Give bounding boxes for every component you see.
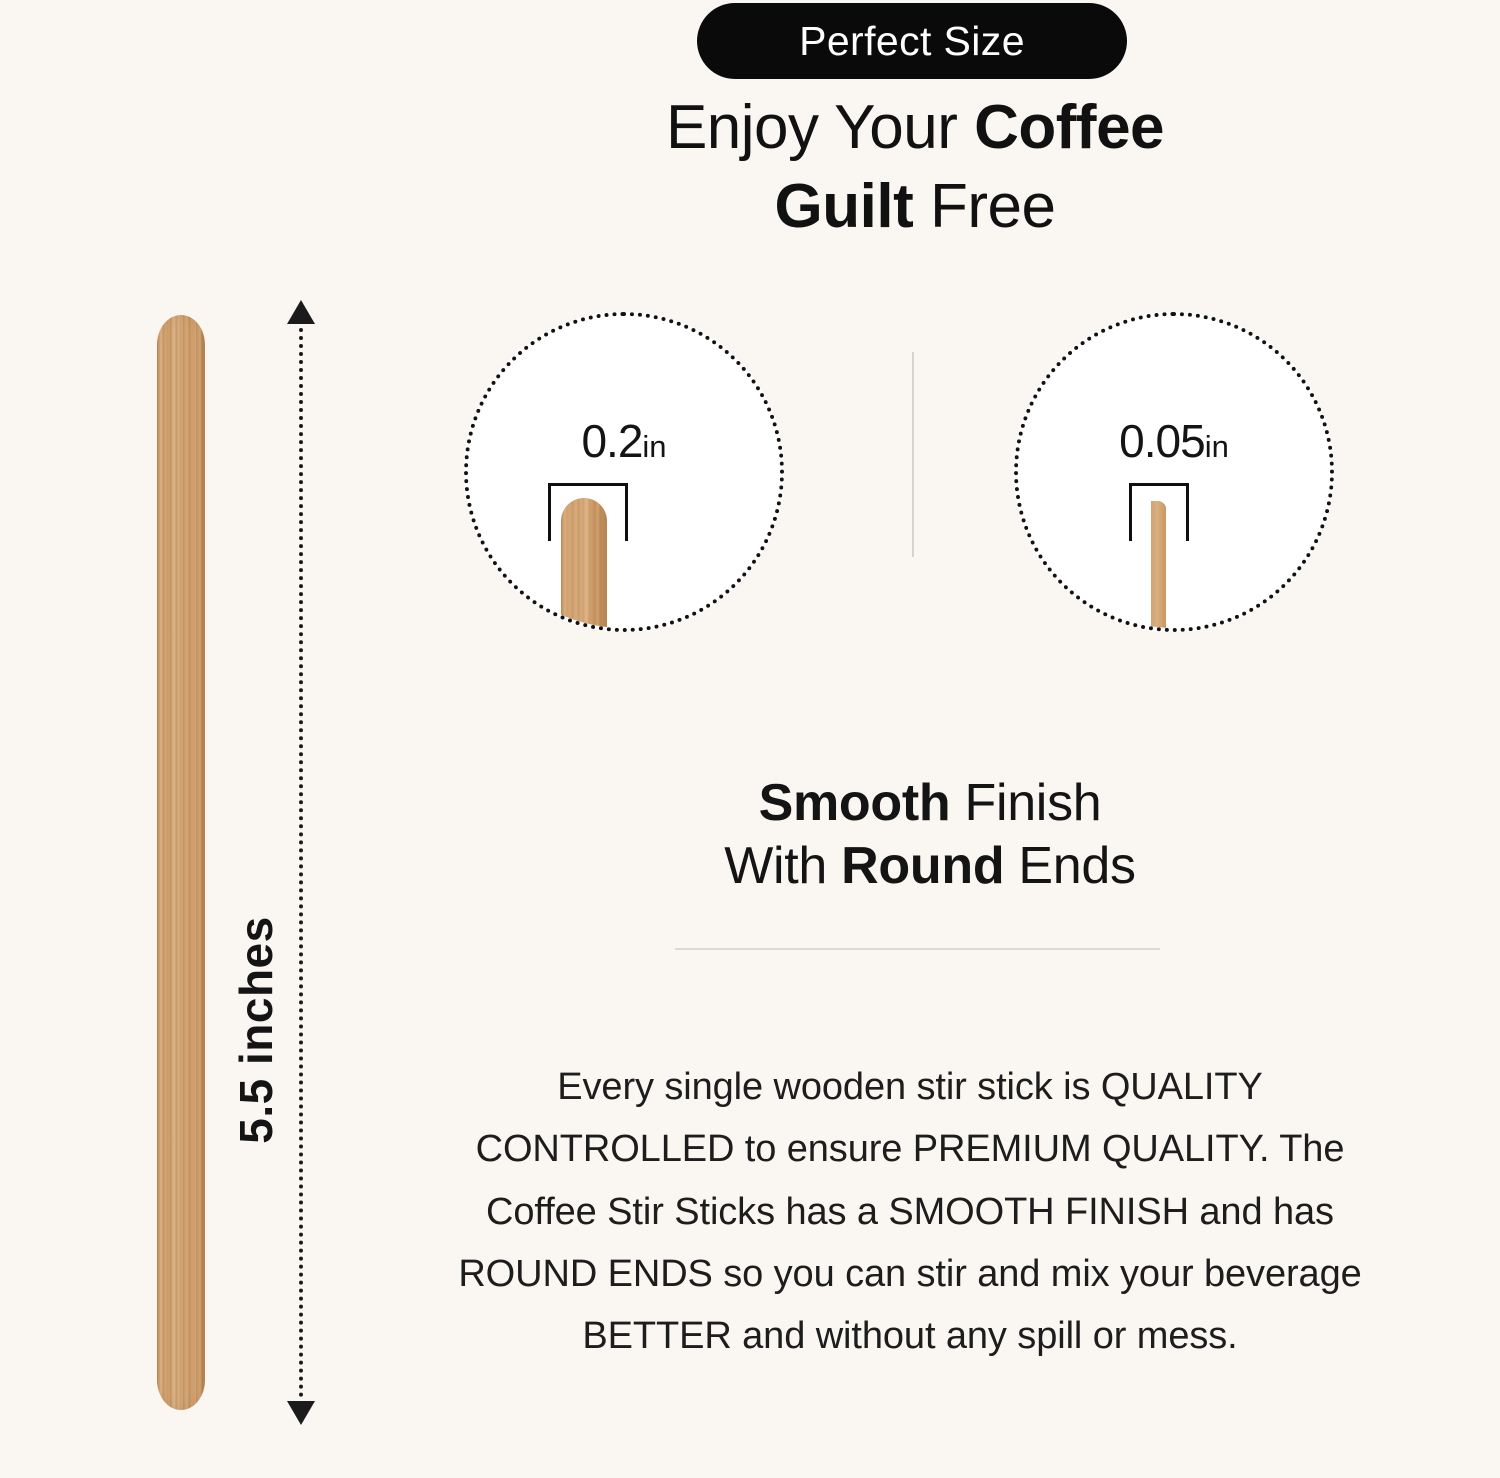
- width-unit: in: [642, 429, 666, 464]
- badge-label: Perfect Size: [799, 18, 1025, 65]
- feature-divider: [675, 948, 1160, 950]
- page-title: Enjoy Your Coffee Guilt Free: [430, 88, 1400, 247]
- thickness-value: 0.05: [1119, 415, 1205, 467]
- stir-stick-full-length: [157, 315, 205, 1410]
- headline-part-3: Guilt: [775, 172, 914, 241]
- detail-circle-thickness: 0.05in: [1014, 312, 1334, 632]
- arrow-up-icon: [287, 300, 315, 324]
- length-label: 5.5 inches: [229, 860, 283, 1200]
- headline-part-2: Coffee: [974, 93, 1164, 162]
- feature-description: Every single wooden stir stick is QUALIT…: [455, 1056, 1365, 1368]
- product-infographic: Perfect Size Enjoy Your Coffee Guilt Fre…: [0, 0, 1500, 1478]
- stir-stick-tip-narrow: [1151, 501, 1166, 632]
- subhead-part-4: Round: [841, 837, 1004, 895]
- thickness-unit: in: [1205, 429, 1229, 464]
- stir-stick-tip-wide: [561, 498, 607, 632]
- thickness-dimension-label: 0.05in: [1018, 414, 1330, 468]
- perfect-size-badge: Perfect Size: [697, 3, 1127, 79]
- feature-subheading: Smooth Finish With Round Ends: [520, 772, 1340, 899]
- length-measurement-group: 5.5 inches: [0, 300, 420, 1460]
- subhead-part-1: Smooth: [759, 774, 951, 832]
- detail-circle-width: 0.2in: [464, 312, 784, 632]
- circles-divider: [912, 352, 914, 557]
- width-value: 0.2: [581, 415, 642, 467]
- subhead-part-2: Finish: [950, 774, 1101, 832]
- width-dimension-label: 0.2in: [468, 414, 780, 468]
- arrow-down-icon: [287, 1401, 315, 1425]
- dotted-axis-line: [299, 328, 303, 1398]
- headline-part-4: Free: [913, 172, 1055, 241]
- subhead-part-5: Ends: [1004, 837, 1135, 895]
- subhead-part-3: With: [724, 837, 841, 895]
- length-dimension-axis: [283, 300, 319, 1425]
- headline-part-1: Enjoy Your: [666, 93, 974, 162]
